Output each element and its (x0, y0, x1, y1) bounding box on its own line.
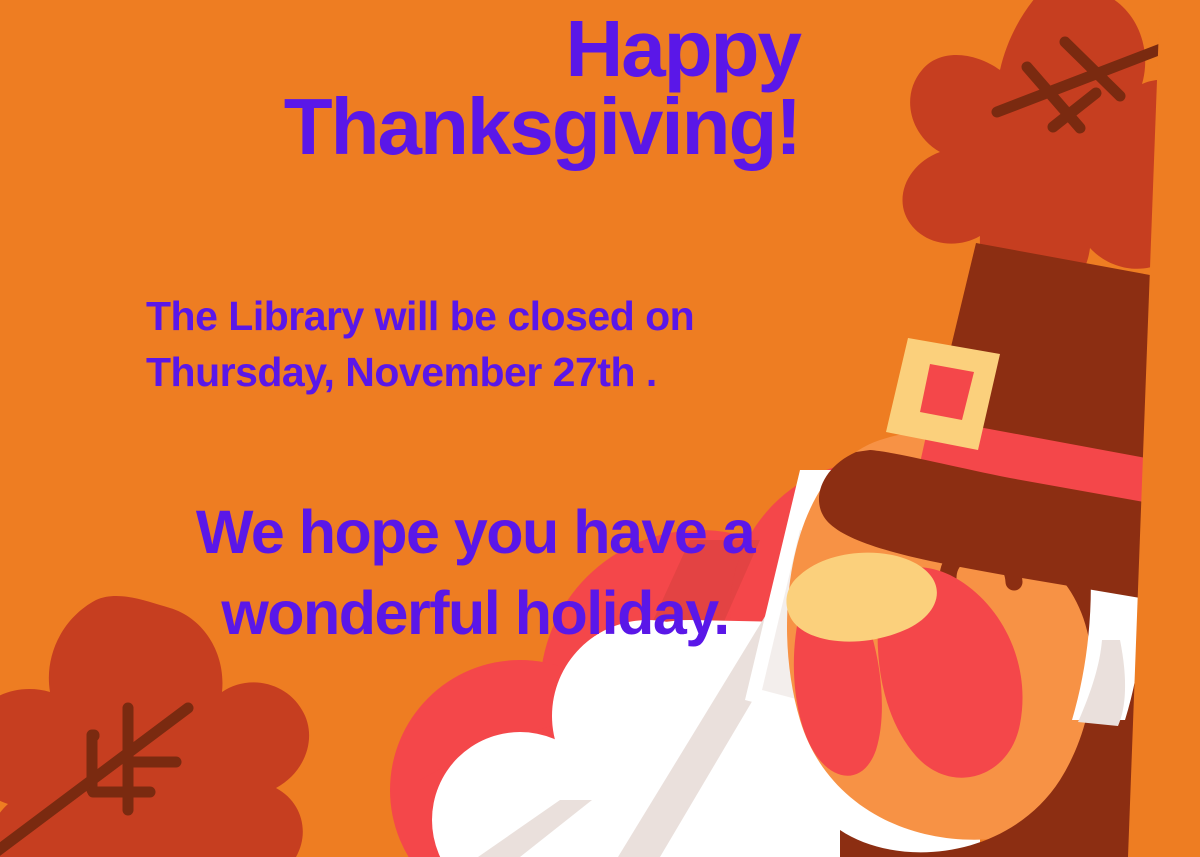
closure-notice-line-2: Thursday, November 27th . (146, 344, 826, 400)
headline-line-1: Happy (140, 10, 800, 88)
page-title: Happy Thanksgiving! (140, 10, 800, 167)
holiday-wish-line-1: We hope you have a (130, 492, 820, 573)
holiday-wish-line-2: wonderful holiday. (130, 573, 820, 654)
closure-notice: The Library will be closed on Thursday, … (146, 288, 826, 400)
headline-line-2: Thanksgiving! (140, 88, 800, 166)
holiday-wish: We hope you have a wonderful holiday. (130, 492, 820, 653)
thanksgiving-poster: Happy Thanksgiving! The Library will be … (0, 0, 1200, 857)
text-layer: Happy Thanksgiving! The Library will be … (0, 0, 1200, 857)
closure-notice-line-1: The Library will be closed on (146, 288, 826, 344)
